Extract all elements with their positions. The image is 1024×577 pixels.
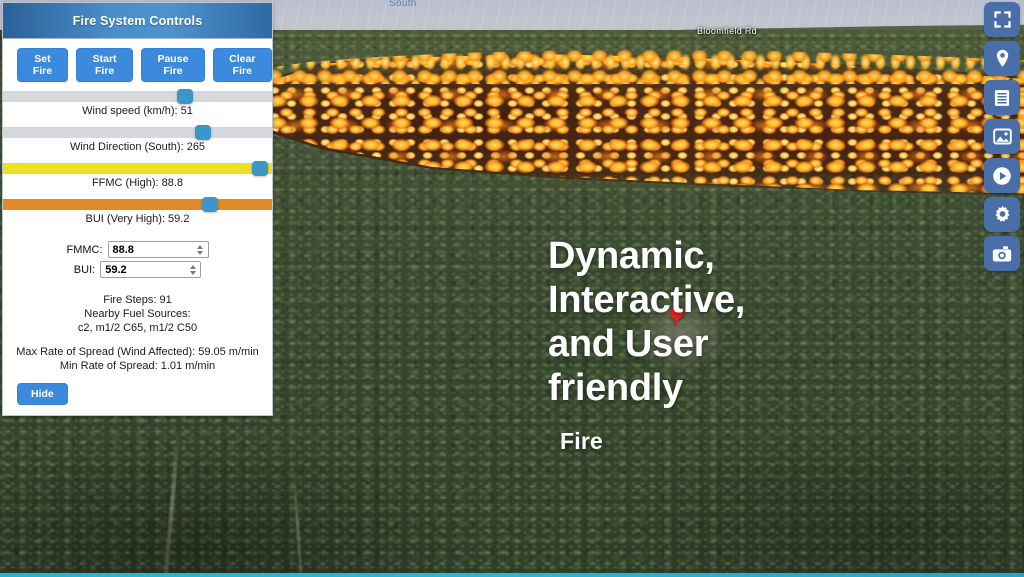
wind-speed-slider[interactable]: Wind speed (km/h): 51 — [3, 91, 272, 127]
numeric-inputs: FMMC: 88.8 BUI: 59.2 — [3, 235, 272, 285]
gear-icon[interactable] — [984, 197, 1020, 232]
wind-speed-handle[interactable] — [177, 89, 193, 104]
ffmc-track[interactable] — [3, 163, 272, 174]
bui-input-label: BUI: — [74, 264, 95, 276]
ffmc-slider[interactable]: FFMC (High): 88.8 — [3, 163, 272, 199]
bui-input[interactable]: 59.2 — [100, 261, 201, 278]
fire-steps-text: Fire Steps: 91 — [13, 293, 262, 307]
fmmc-input-row: FMMC: 88.8 — [3, 241, 272, 258]
play-icon[interactable] — [984, 158, 1020, 193]
clear-fire-button[interactable]: Clear Fire — [213, 48, 272, 82]
simulation-stats: Fire Steps: 91 Nearby Fuel Sources: c2, … — [3, 285, 272, 375]
bui-handle[interactable] — [202, 197, 218, 212]
hide-button[interactable]: Hide — [17, 383, 68, 405]
marker-pin — [667, 303, 685, 321]
map-label-bloomfield-rd: Bloomfield Rd — [697, 26, 757, 36]
fmmc-input-value: 88.8 — [109, 244, 134, 256]
fmmc-stepper-down-icon[interactable] — [197, 251, 203, 255]
fmmc-stepper[interactable] — [196, 243, 205, 256]
ffmc-handle[interactable] — [252, 161, 268, 176]
image-icon[interactable] — [984, 119, 1020, 154]
fire-action-buttons: Set Fire Start Fire Pause Fire Clear Fir… — [3, 39, 272, 91]
list-document-icon[interactable] — [984, 80, 1020, 115]
wind-speed-track[interactable] — [3, 91, 272, 102]
bui-label: BUI (Very High): 59.2 — [3, 213, 272, 225]
bui-input-value: 59.2 — [101, 264, 126, 276]
fmmc-input[interactable]: 88.8 — [108, 241, 209, 258]
location-pin-icon[interactable] — [984, 41, 1020, 76]
max-rate-of-spread-text: Max Rate of Spread (Wind Affected): 59.0… — [13, 345, 262, 359]
pause-fire-button[interactable]: Pause Fire — [141, 48, 204, 82]
start-fire-button[interactable]: Start Fire — [76, 48, 133, 82]
map-tool-rail — [984, 2, 1022, 275]
wind-direction-slider[interactable]: Wind Direction (South): 265 — [3, 127, 272, 163]
bui-stepper[interactable] — [188, 263, 197, 276]
fmmc-stepper-up-icon[interactable] — [197, 245, 203, 249]
fire-system-controls-panel[interactable]: Fire System Controls Set Fire Start Fire… — [2, 2, 273, 416]
wind-speed-label: Wind speed (km/h): 51 — [3, 105, 272, 117]
panel-title: Fire System Controls — [3, 3, 272, 39]
stats-spacer — [13, 335, 262, 345]
bui-input-row: BUI: 59.2 — [3, 261, 272, 278]
fuel-sources-heading: Nearby Fuel Sources: — [13, 307, 262, 321]
wind-direction-label: Wind Direction (South): 265 — [3, 141, 272, 153]
fire-caption: Fire — [560, 428, 603, 455]
set-fire-button[interactable]: Set Fire — [17, 48, 68, 82]
bui-track[interactable] — [3, 199, 272, 210]
wind-direction-handle[interactable] — [195, 125, 211, 140]
map-label-south: South — [389, 0, 417, 9]
fullscreen-icon[interactable] — [984, 2, 1020, 37]
bottom-accent-strip — [0, 573, 1024, 577]
ffmc-label: FFMC (High): 88.8 — [3, 177, 272, 189]
bui-slider[interactable]: BUI (Very High): 59.2 — [3, 199, 272, 235]
bui-stepper-down-icon[interactable] — [190, 271, 196, 275]
camera-icon[interactable] — [984, 236, 1020, 271]
fmmc-input-label: FMMC: — [66, 244, 102, 256]
panel-footer: Hide — [3, 375, 272, 415]
min-rate-of-spread-text: Min Rate of Spread: 1.01 m/min — [13, 359, 262, 373]
bui-stepper-up-icon[interactable] — [190, 265, 196, 269]
fire-origin-marker[interactable] — [670, 306, 684, 328]
wind-direction-track[interactable] — [3, 127, 272, 138]
fuel-sources-values: c2, m1/2 C65, m1/2 C50 — [13, 321, 262, 335]
